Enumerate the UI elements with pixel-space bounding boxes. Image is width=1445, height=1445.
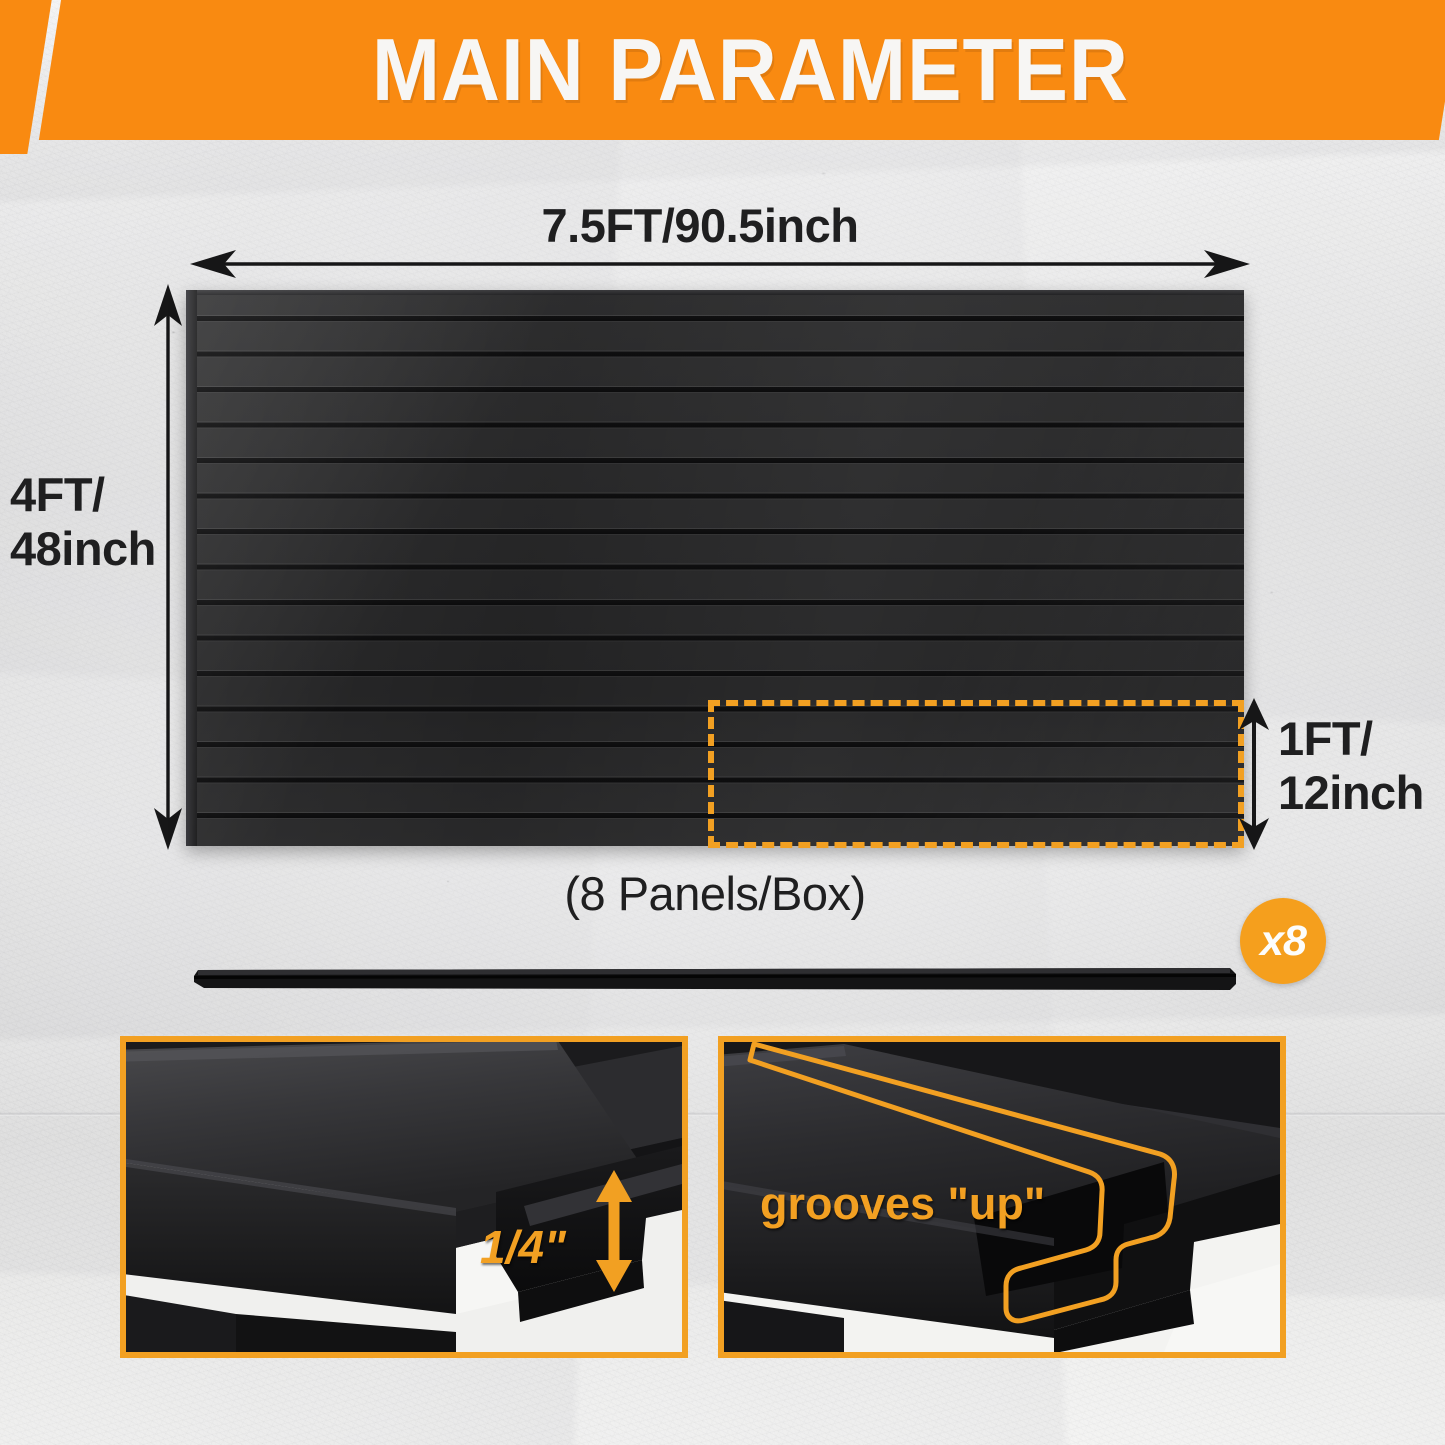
height-dimension-arrow-icon <box>148 284 188 850</box>
groove-orientation-label: grooves "up" <box>760 1178 1045 1230</box>
panel-edge-profile <box>190 962 1240 996</box>
quantity-badge-label: x8 <box>1260 920 1306 963</box>
section-dimension-label-line2: 12inch <box>1278 766 1445 820</box>
height-dimension-label-line2: 48inch <box>10 522 160 576</box>
quantity-badge: x8 <box>1240 898 1326 984</box>
height-dimension-label-line1: 4FT/ <box>10 468 160 522</box>
thickness-label: 1/4" <box>480 1220 566 1274</box>
panels-per-box-caption: (8 Panels/Box) <box>415 866 1015 921</box>
panel-left-edge <box>186 290 197 846</box>
height-dimension-label: 4FT/ 48inch <box>10 468 160 575</box>
panel-top-edge <box>186 290 1244 295</box>
infographic-canvas: MAIN PARAMETER 7.5FT/90.5inch 4FT/ 48inc… <box>0 0 1445 1445</box>
section-highlight-box <box>708 700 1244 848</box>
section-dimension-label: 1FT/ 12inch <box>1278 712 1445 819</box>
thickness-arrow-icon <box>594 1170 634 1292</box>
section-dimension-arrow-icon <box>1234 698 1274 850</box>
width-dimension-arrow-icon <box>190 246 1250 282</box>
header-banner: MAIN PARAMETER <box>0 0 1445 146</box>
page-title: MAIN PARAMETER <box>51 10 1395 130</box>
section-dimension-label-line1: 1FT/ <box>1278 712 1445 766</box>
width-dimension-label: 7.5FT/90.5inch <box>430 198 970 253</box>
